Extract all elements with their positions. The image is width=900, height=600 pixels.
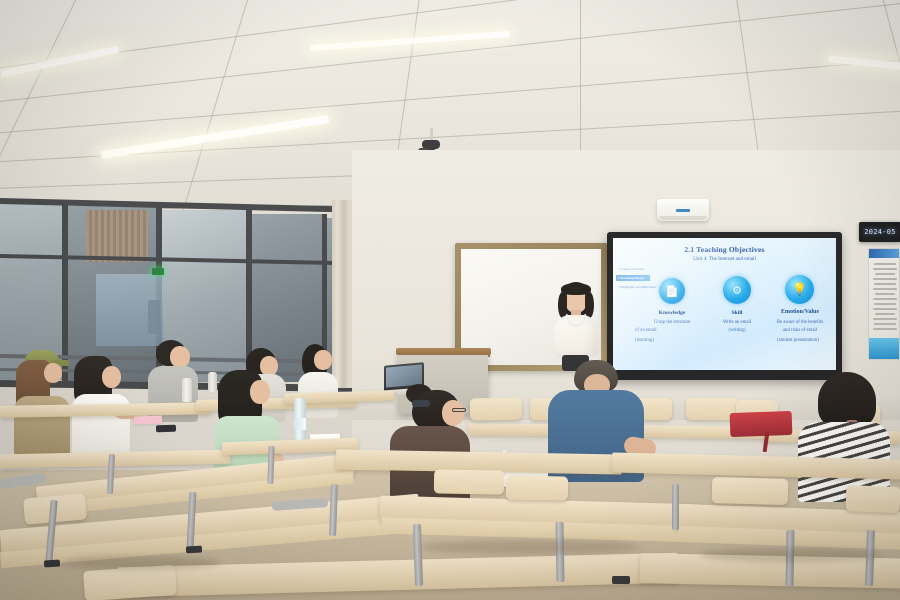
desk-foot	[186, 546, 202, 554]
exit-sign	[152, 268, 164, 275]
chair-back[interactable]	[712, 477, 789, 505]
slide-column-line: (learning)	[627, 338, 695, 343]
chair-back[interactable]	[83, 565, 177, 600]
digital-date-display: 2024-05	[859, 222, 900, 242]
poster-header	[869, 249, 899, 258]
slide-nav-item-2[interactable]: 2 Teaching Design	[616, 275, 650, 281]
face	[102, 366, 121, 388]
red-handbag[interactable]	[730, 411, 793, 437]
thermos-cup[interactable]	[182, 378, 192, 402]
chair-back[interactable]	[434, 469, 504, 494]
presenter-hair-left	[558, 292, 567, 318]
notebook-paper[interactable]	[134, 416, 162, 425]
slide-nav: 1 Course Overview 2 Teaching Design 3 Hi…	[616, 266, 650, 291]
air-conditioner-vent	[659, 216, 707, 220]
hair-clip-icon	[412, 400, 430, 407]
slide-column-heading-3: Emotion/Value	[763, 309, 836, 315]
wall-wood-panel	[86, 210, 148, 262]
desk-leg	[672, 484, 679, 530]
slide-column-line: Grasp the structure	[633, 320, 711, 325]
face	[314, 350, 332, 370]
date-display-text: 2024-05	[864, 228, 896, 236]
presenter-hair-right	[585, 292, 594, 318]
slide-column-line: (student presentation)	[759, 338, 836, 343]
podium-top	[396, 348, 491, 355]
slide-nav-item-3[interactable]: 3 Highlights and Reflection	[616, 284, 650, 290]
network-nodes-icon: ⚙	[723, 276, 751, 304]
bottle-label	[294, 418, 306, 430]
glasses-icon	[452, 408, 466, 412]
presentation-screen[interactable]: 2.1 Teaching Objectives Unit 4: The Inte…	[613, 238, 836, 370]
student-stripe	[798, 372, 900, 504]
slide-column-heading-1: Knowledge	[637, 310, 707, 316]
ceiling-light	[1, 46, 120, 78]
slide-subtitle: Unit 4: The Internet and email	[613, 256, 836, 262]
face	[442, 400, 464, 426]
classroom-photo: 2024-05 2.1 Teaching Objectives Unit 4: …	[0, 0, 900, 600]
slide-column-line: of an email	[627, 328, 695, 333]
desk-foot	[612, 576, 630, 584]
idea-bulb-icon: 💡	[785, 275, 814, 304]
desk-foot	[44, 559, 60, 567]
slide-column-line: Be aware of the benefits	[761, 320, 836, 325]
book-icon: 📄	[659, 278, 685, 304]
air-conditioner-logo	[676, 209, 690, 212]
presenter	[552, 282, 600, 368]
slide-column-heading-2: Skill	[705, 310, 769, 316]
face	[44, 363, 62, 383]
face	[170, 346, 190, 368]
slide-nav-item-1[interactable]: 1 Course Overview	[616, 266, 650, 272]
slide-column-line: and risks of email	[761, 328, 836, 333]
slide-title: 2.1 Teaching Objectives	[613, 245, 836, 254]
chair-back[interactable]	[506, 475, 568, 500]
face	[250, 380, 270, 404]
poster-footer	[869, 338, 899, 359]
smartphone[interactable]	[156, 425, 176, 433]
chair-back[interactable]	[846, 485, 900, 513]
